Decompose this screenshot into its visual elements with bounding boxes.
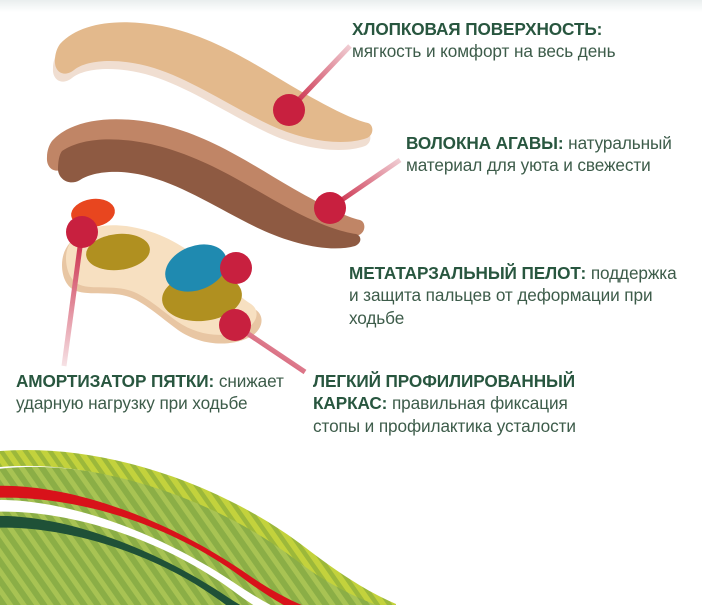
wave-band-dark-green <box>0 516 314 605</box>
base-layer-shade <box>62 227 262 343</box>
top-gradient-strip <box>0 0 702 12</box>
cotton-layer-edge <box>53 30 370 150</box>
callout-dot-frame[interactable] <box>219 309 251 341</box>
callout-dot-metatarsal[interactable] <box>220 252 252 284</box>
leader-line-frame <box>235 325 305 372</box>
base-layer-body <box>66 225 257 335</box>
wave-band-green-hatch <box>0 440 410 605</box>
callout-dot-heel[interactable] <box>66 216 98 248</box>
agave-layer-body <box>58 139 360 248</box>
wave-band-white <box>0 500 328 605</box>
cotton-surface-layer <box>53 22 372 150</box>
decorative-green-wave <box>0 440 410 605</box>
wave-band-lime-hatch <box>0 450 396 605</box>
heel-shock-absorber-orange <box>69 196 116 230</box>
metatarsal-pelotte-blue <box>158 236 234 301</box>
callout-cotton-heading: ХЛОПКОВАЯ ПОВЕРХНОСТЬ: <box>352 19 602 39</box>
base-frame-layer <box>62 196 262 343</box>
callout-metatarsal-heading: МЕТАТАРЗАЛЬНЫЙ ПЕЛОТ: <box>349 263 586 283</box>
leader-line-heel <box>64 232 82 366</box>
insole-infographic: ХЛОПКОВАЯ ПОВЕРХНОСТЬ: мягкость и комфор… <box>0 0 702 605</box>
callout-cotton: ХЛОПКОВАЯ ПОВЕРХНОСТЬ: мягкость и комфор… <box>352 18 672 63</box>
callout-heel-heading: АМОРТИЗАТОР ПЯТКИ: <box>16 371 214 391</box>
leader-line-cotton <box>289 46 350 110</box>
callout-heel: АМОРТИЗАТОР ПЯТКИ: снижает ударную нагру… <box>16 370 306 415</box>
heel-pad-olive <box>84 231 151 273</box>
metatarsal-pad-olive <box>160 270 244 325</box>
callout-metatarsal: МЕТАТАРЗАЛЬНЫЙ ПЕЛОТ: поддержка и защита… <box>349 262 689 329</box>
callout-dot-cotton[interactable] <box>273 94 305 126</box>
callout-frame: ЛЕГКИЙ ПРОФИЛИРОВАННЫЙ КАРКАС: правильна… <box>313 370 613 437</box>
leader-line-agave <box>330 160 400 208</box>
callout-cotton-body: мягкость и комфорт на весь день <box>352 41 615 61</box>
callout-agave-heading: ВОЛОКНА АГАВЫ: <box>406 133 564 153</box>
callout-dots <box>66 94 346 341</box>
agave-layer-top <box>47 119 364 239</box>
callout-dot-agave[interactable] <box>314 192 346 224</box>
callout-agave: ВОЛОКНА АГАВЫ: натуральный материал для … <box>406 132 696 177</box>
agave-fiber-layer <box>47 119 364 248</box>
wave-band-red <box>0 486 340 605</box>
cotton-layer-body <box>55 22 372 142</box>
